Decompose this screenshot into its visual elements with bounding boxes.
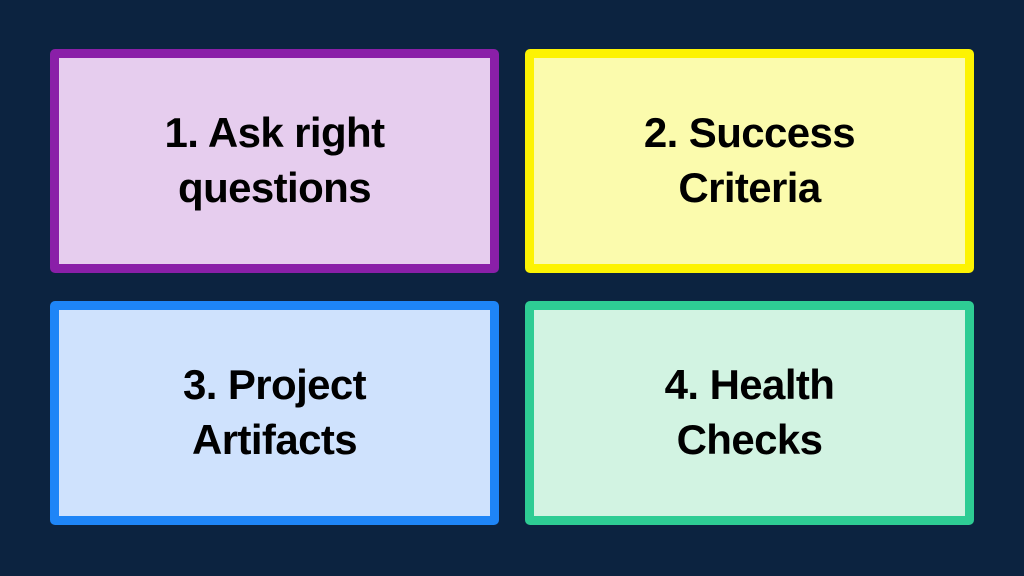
card-title-health-checks: 4. Health Checks — [665, 358, 835, 467]
slide-canvas: 1. Ask right questions 2. Success Criter… — [0, 0, 1024, 576]
card-title-ask-right-questions: 1. Ask right questions — [165, 106, 385, 215]
card-project-artifacts[interactable]: 3. Project Artifacts — [50, 301, 499, 525]
card-title-project-artifacts: 3. Project Artifacts — [183, 358, 366, 467]
card-success-criteria[interactable]: 2. Success Criteria — [525, 49, 974, 273]
card-health-checks[interactable]: 4. Health Checks — [525, 301, 974, 525]
card-grid: 1. Ask right questions 2. Success Criter… — [50, 49, 974, 525]
card-ask-right-questions[interactable]: 1. Ask right questions — [50, 49, 499, 273]
card-title-success-criteria: 2. Success Criteria — [644, 106, 855, 215]
